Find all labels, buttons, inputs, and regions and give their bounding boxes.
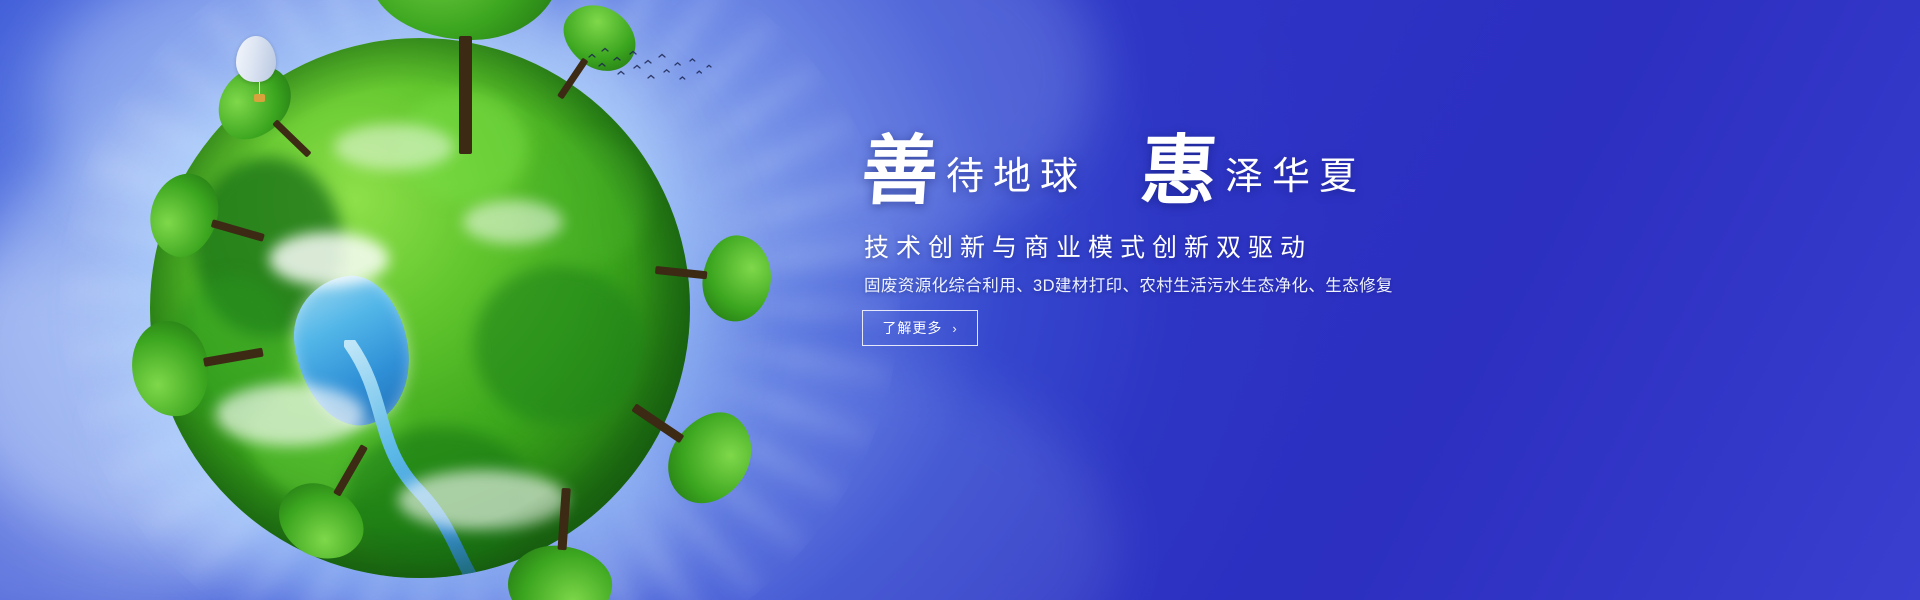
balloon-envelope [236, 36, 276, 82]
headline-rest-daidiqiu: 待地球 [938, 156, 1087, 206]
banner-description: 固废资源化综合利用、3D建材打印、农村生活污水生态净化、生态修复 [864, 272, 1393, 296]
learn-more-button[interactable]: 了解更多 › [862, 310, 978, 346]
chevron-right-icon: › [952, 322, 957, 335]
headline-char-hui: 惠 [1139, 136, 1220, 206]
hero-banner: 善 待地球 惠 泽华夏 技术创新与商业模式创新双驱动 固废资源化综合利用、3D建… [0, 0, 1920, 600]
headline-rest-zehuaxia: 泽华夏 [1217, 156, 1366, 206]
balloon-rope [259, 82, 260, 94]
learn-more-label: 了解更多 [882, 318, 942, 338]
hot-air-balloon [236, 36, 282, 110]
banner-subtitle: 技术创新与商业模式创新双驱动 [864, 228, 1312, 264]
tiny-planet-globe [150, 38, 690, 578]
rim-vegetation-shading [150, 38, 690, 578]
globe-sphere [150, 38, 690, 578]
balloon-basket [254, 94, 265, 102]
page-title: 善 待地球 惠 泽华夏 [862, 136, 1366, 206]
banner-content: 善 待地球 惠 泽华夏 技术创新与商业模式创新双驱动 固废资源化综合利用、3D建… [862, 0, 1862, 600]
headline-char-shan: 善 [860, 136, 941, 206]
bird-flock [585, 45, 715, 90]
